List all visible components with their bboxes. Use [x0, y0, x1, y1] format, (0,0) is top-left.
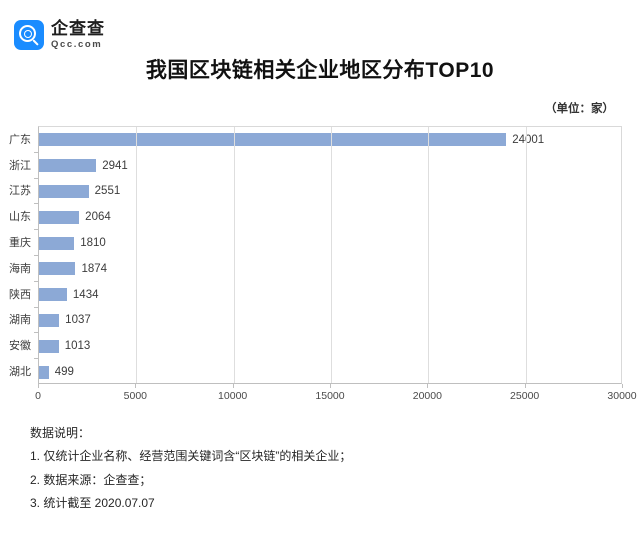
bar-value-label: 1013 — [65, 340, 91, 352]
brand-name-cn: 企查查 — [51, 20, 105, 37]
x-axis-tick — [135, 384, 136, 388]
x-axis-tick — [525, 384, 526, 388]
x-axis-tick — [233, 384, 234, 388]
bar-row: 1434 — [39, 282, 621, 308]
category-label: 重庆 — [9, 229, 31, 255]
x-axis-tick-label: 30000 — [607, 390, 636, 402]
category-label: 山东 — [9, 203, 31, 229]
bar — [39, 133, 506, 146]
category-label: 江苏 — [9, 178, 31, 204]
bar-row: 24001 — [39, 127, 621, 153]
bar-value-label: 2551 — [95, 185, 121, 197]
gridline — [428, 127, 429, 383]
category-label: 湖南 — [9, 307, 31, 333]
x-axis-tick-label: 10000 — [218, 390, 247, 402]
brand-wordmark: 企查查 Qcc.com — [51, 20, 105, 50]
brand-name-en: Qcc.com — [51, 40, 105, 50]
bar-value-label: 24001 — [512, 134, 544, 146]
x-axis: 050001000015000200002500030000 — [38, 384, 622, 404]
bar — [39, 159, 96, 172]
gridline — [331, 127, 332, 383]
bar — [39, 314, 59, 327]
bar-row: 1874 — [39, 256, 621, 282]
bar — [39, 211, 79, 224]
x-axis-tick — [427, 384, 428, 388]
bar — [39, 262, 75, 275]
bar-value-label: 1037 — [65, 314, 91, 326]
bar-row: 1037 — [39, 308, 621, 334]
bar-row: 2551 — [39, 179, 621, 205]
bar-rows: 2400129412551206418101874143410371013499 — [39, 127, 621, 383]
bar-value-label: 1810 — [80, 237, 106, 249]
x-axis-tick — [622, 384, 623, 388]
notes-title: 数据说明： — [30, 422, 450, 445]
plot-area: 2400129412551206418101874143410371013499 — [38, 126, 622, 384]
chart-plot: 广东浙江江苏山东重庆海南陕西湖南安徽湖北 2400129412551206418… — [0, 126, 640, 404]
bar-value-label: 2064 — [85, 211, 111, 223]
bar-row: 499 — [39, 359, 621, 385]
bar — [39, 185, 89, 198]
page-title: 我国区块链相关企业地区分布TOP10 — [0, 54, 640, 84]
gridline — [526, 127, 527, 383]
bar — [39, 237, 74, 250]
category-label: 陕西 — [9, 281, 31, 307]
category-label: 湖北 — [9, 358, 31, 384]
bar-row: 1810 — [39, 230, 621, 256]
category-label: 安徽 — [9, 332, 31, 358]
bar-row: 2941 — [39, 153, 621, 179]
x-axis-tick-label: 15000 — [315, 390, 344, 402]
chart-header: 企查查 Qcc.com 我国区块链相关企业地区分布TOP10 （单位：家） — [0, 0, 640, 96]
bar — [39, 288, 67, 301]
x-axis-tick — [330, 384, 331, 388]
category-label: 广东 — [9, 126, 31, 152]
bar-row: 2064 — [39, 204, 621, 230]
category-label: 海南 — [9, 255, 31, 281]
unit-label: （单位：家） — [545, 100, 614, 116]
bar — [39, 366, 49, 379]
bar-value-label: 1434 — [73, 289, 99, 301]
note-item: 1. 仅统计企业名称、经营范围关键词含“区块链”的相关企业； — [30, 445, 450, 468]
bar-value-label: 2941 — [102, 160, 128, 172]
bar — [39, 340, 59, 353]
x-axis-tick — [38, 384, 39, 388]
brand-logo: 企查查 Qcc.com — [14, 20, 105, 50]
bar-value-label: 1874 — [81, 263, 107, 275]
gridline — [136, 127, 137, 383]
note-item: 3. 统计截至 2020.07.07 — [30, 492, 450, 515]
y-axis-category-labels: 广东浙江江苏山东重庆海南陕西湖南安徽湖北 — [0, 126, 38, 384]
data-notes: 数据说明： 1. 仅统计企业名称、经营范围关键词含“区块链”的相关企业； 2. … — [30, 422, 450, 516]
note-item: 2. 数据来源：企查查； — [30, 469, 450, 492]
qcc-magnifier-logo-icon — [14, 20, 44, 50]
bar-row: 1013 — [39, 333, 621, 359]
x-axis-tick-label: 5000 — [124, 390, 147, 402]
bar-value-label: 499 — [55, 366, 74, 378]
category-label: 浙江 — [9, 152, 31, 178]
gridline — [234, 127, 235, 383]
x-axis-tick-label: 20000 — [413, 390, 442, 402]
x-axis-tick-label: 0 — [35, 390, 41, 402]
x-axis-tick-label: 25000 — [510, 390, 539, 402]
